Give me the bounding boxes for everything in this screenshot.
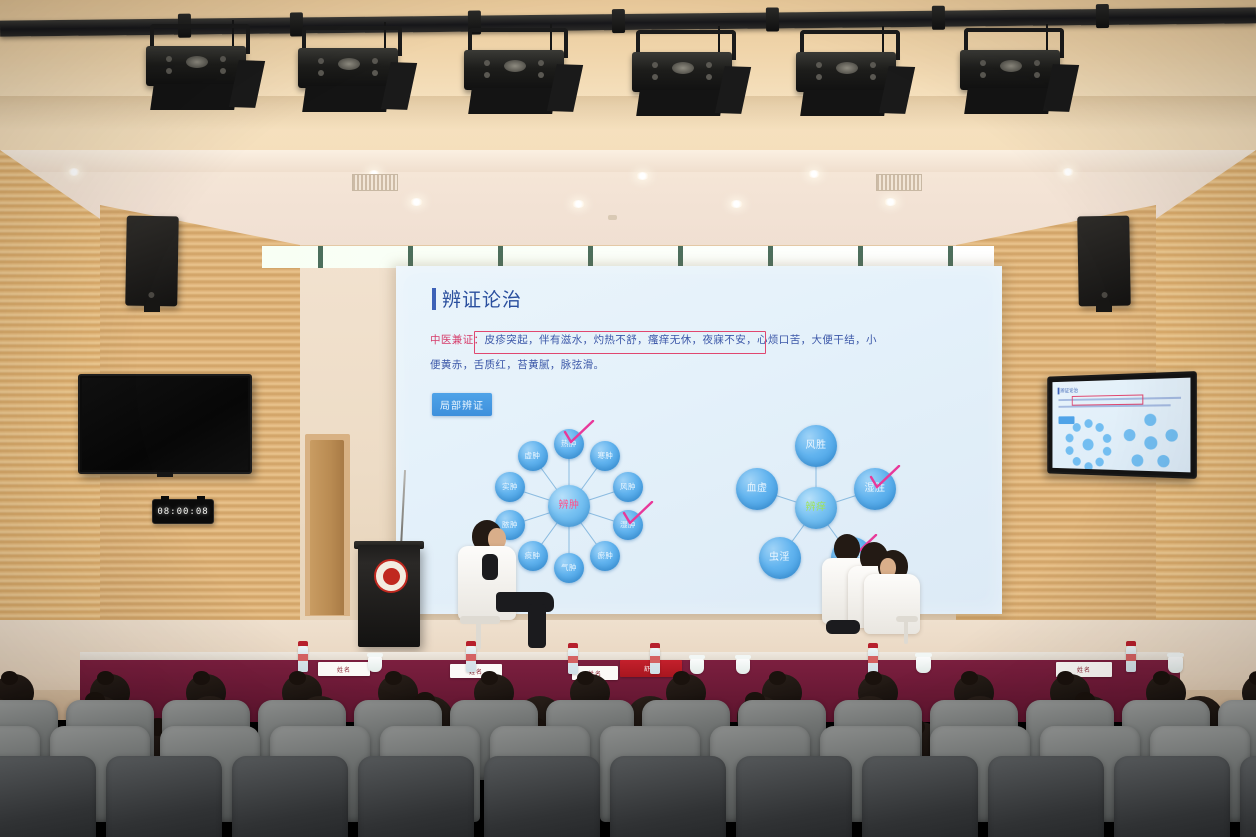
side-display-hub (1083, 439, 1094, 451)
lecture-hall-scene: 08:00:08 辨证论治 中医兼证：皮疹突起，伴有滋水，灼热不舒，瘙痒无休，夜… (0, 0, 1256, 837)
wall-display-left[interactable] (78, 374, 252, 474)
audience-hair-bun (1057, 671, 1074, 685)
downlight-icon (68, 168, 80, 176)
stage-door[interactable] (310, 440, 344, 615)
audience-seat[interactable] (862, 756, 978, 837)
diagram-node[interactable]: 虚肿 (518, 441, 548, 471)
clock-readout: 08:00:08 (157, 507, 208, 517)
smoke-detector-icon (608, 215, 617, 220)
downlight-icon (1062, 168, 1074, 176)
diagram-node[interactable]: 风胜 (795, 425, 837, 467)
side-display-node (1157, 455, 1169, 468)
side-display-node (1132, 454, 1144, 466)
audience-hair-bun (1249, 671, 1256, 685)
diagram-node[interactable]: 湿肿 (613, 510, 643, 540)
downlight-icon (572, 200, 585, 208)
audience-hair-bun (673, 671, 690, 685)
tag-button-local-diagnosis[interactable]: 局部辨证 (432, 393, 492, 416)
tea-cup (1168, 656, 1183, 673)
panelist-group (812, 528, 922, 650)
diagram-node[interactable]: 湿胜 (854, 468, 896, 510)
audience-hair-bun (1, 671, 18, 685)
speaker-doctor (452, 520, 572, 650)
audience-seat[interactable] (736, 756, 852, 837)
audience-seat[interactable] (0, 756, 96, 837)
side-display-node (1096, 458, 1104, 467)
side-display-diagram-right (1052, 378, 1190, 383)
water-bottle (650, 648, 660, 674)
audience-hair-bun (1153, 671, 1170, 685)
diagram-node[interactable]: 血虚 (736, 468, 778, 510)
title-accent-bar (432, 288, 436, 310)
speaker-bracket (144, 300, 160, 312)
audience-hair-bun (193, 671, 210, 685)
audience-seat[interactable] (988, 756, 1104, 837)
audience-hair-bun (577, 671, 594, 685)
tea-cup (368, 656, 382, 672)
diagram-node[interactable]: 瘀肿 (590, 541, 620, 571)
side-display-node (1144, 414, 1156, 426)
audience-hair-bun (97, 671, 114, 685)
side-display-node (1072, 457, 1080, 466)
institution-emblem-icon (374, 559, 408, 593)
slide-body-line-2: 便黄赤，舌质红，苔黄腻，脉弦滑。 (430, 359, 604, 371)
water-bottle (1126, 646, 1136, 672)
audience-seat[interactable] (232, 756, 348, 837)
tea-cup (736, 658, 750, 674)
diagram-node[interactable]: 风肿 (613, 472, 643, 502)
side-display-node (1103, 434, 1111, 443)
red-highlight-box (474, 331, 766, 354)
wall-speaker-left (125, 216, 179, 307)
speaker-bracket (1096, 300, 1112, 312)
water-bottle (298, 646, 308, 672)
diagram-node[interactable]: 虫淫 (759, 537, 801, 579)
side-display-hub (1144, 436, 1157, 449)
side-display-node (1065, 446, 1073, 455)
ceiling-vent (352, 174, 398, 191)
side-display-node (1065, 433, 1073, 442)
audience-hair-bun (769, 671, 786, 685)
ceiling-vent (876, 174, 922, 191)
downlight-icon (636, 172, 649, 180)
audience-hair-bun (385, 671, 402, 685)
side-display-slide: 辨证论治 (1052, 378, 1190, 473)
audience-seat[interactable] (484, 756, 600, 837)
side-display-node (1084, 462, 1092, 471)
diagram-hub-node[interactable]: 辨痒 (795, 487, 837, 529)
wall-speaker-right (1077, 216, 1131, 307)
side-display-node (1096, 423, 1104, 432)
side-display-node (1124, 429, 1136, 441)
audience-seat[interactable] (358, 756, 474, 837)
downlight-icon (808, 170, 820, 178)
side-display-node (1072, 423, 1080, 432)
water-bottle (466, 646, 476, 672)
nameplate: 姓名 (318, 662, 370, 676)
wall-display-right[interactable]: 辨证论治 (1047, 371, 1197, 479)
digital-clock: 08:00:08 (152, 499, 214, 524)
side-display-diagram-left (1052, 378, 1190, 383)
audience-hair-bun (865, 671, 882, 685)
audience-hair-bun (961, 671, 978, 685)
audience-seat[interactable] (106, 756, 222, 837)
diagram-node[interactable]: 实肿 (495, 472, 525, 502)
podium (358, 545, 420, 647)
side-display-title: 辨证论治 (1060, 387, 1078, 394)
water-bottle (568, 648, 578, 674)
diagram-node[interactable]: 寒肿 (590, 441, 620, 471)
downlight-icon (884, 198, 897, 206)
audience-seat[interactable] (1240, 756, 1256, 837)
side-display-node (1103, 447, 1111, 456)
slide-title: 辨证论治 (442, 285, 522, 312)
downlight-icon (410, 198, 423, 206)
audience-hair-bun (481, 671, 498, 685)
downlight-icon (730, 200, 743, 208)
tea-cup (916, 656, 931, 673)
audience-hair-bun (289, 671, 306, 685)
side-display-node (1084, 419, 1092, 428)
side-display-node (1165, 429, 1177, 442)
diagram-node[interactable]: 热肿 (554, 429, 584, 459)
audience-seat[interactable] (1114, 756, 1230, 837)
audience-seat[interactable] (610, 756, 726, 837)
tea-cup (690, 658, 704, 674)
